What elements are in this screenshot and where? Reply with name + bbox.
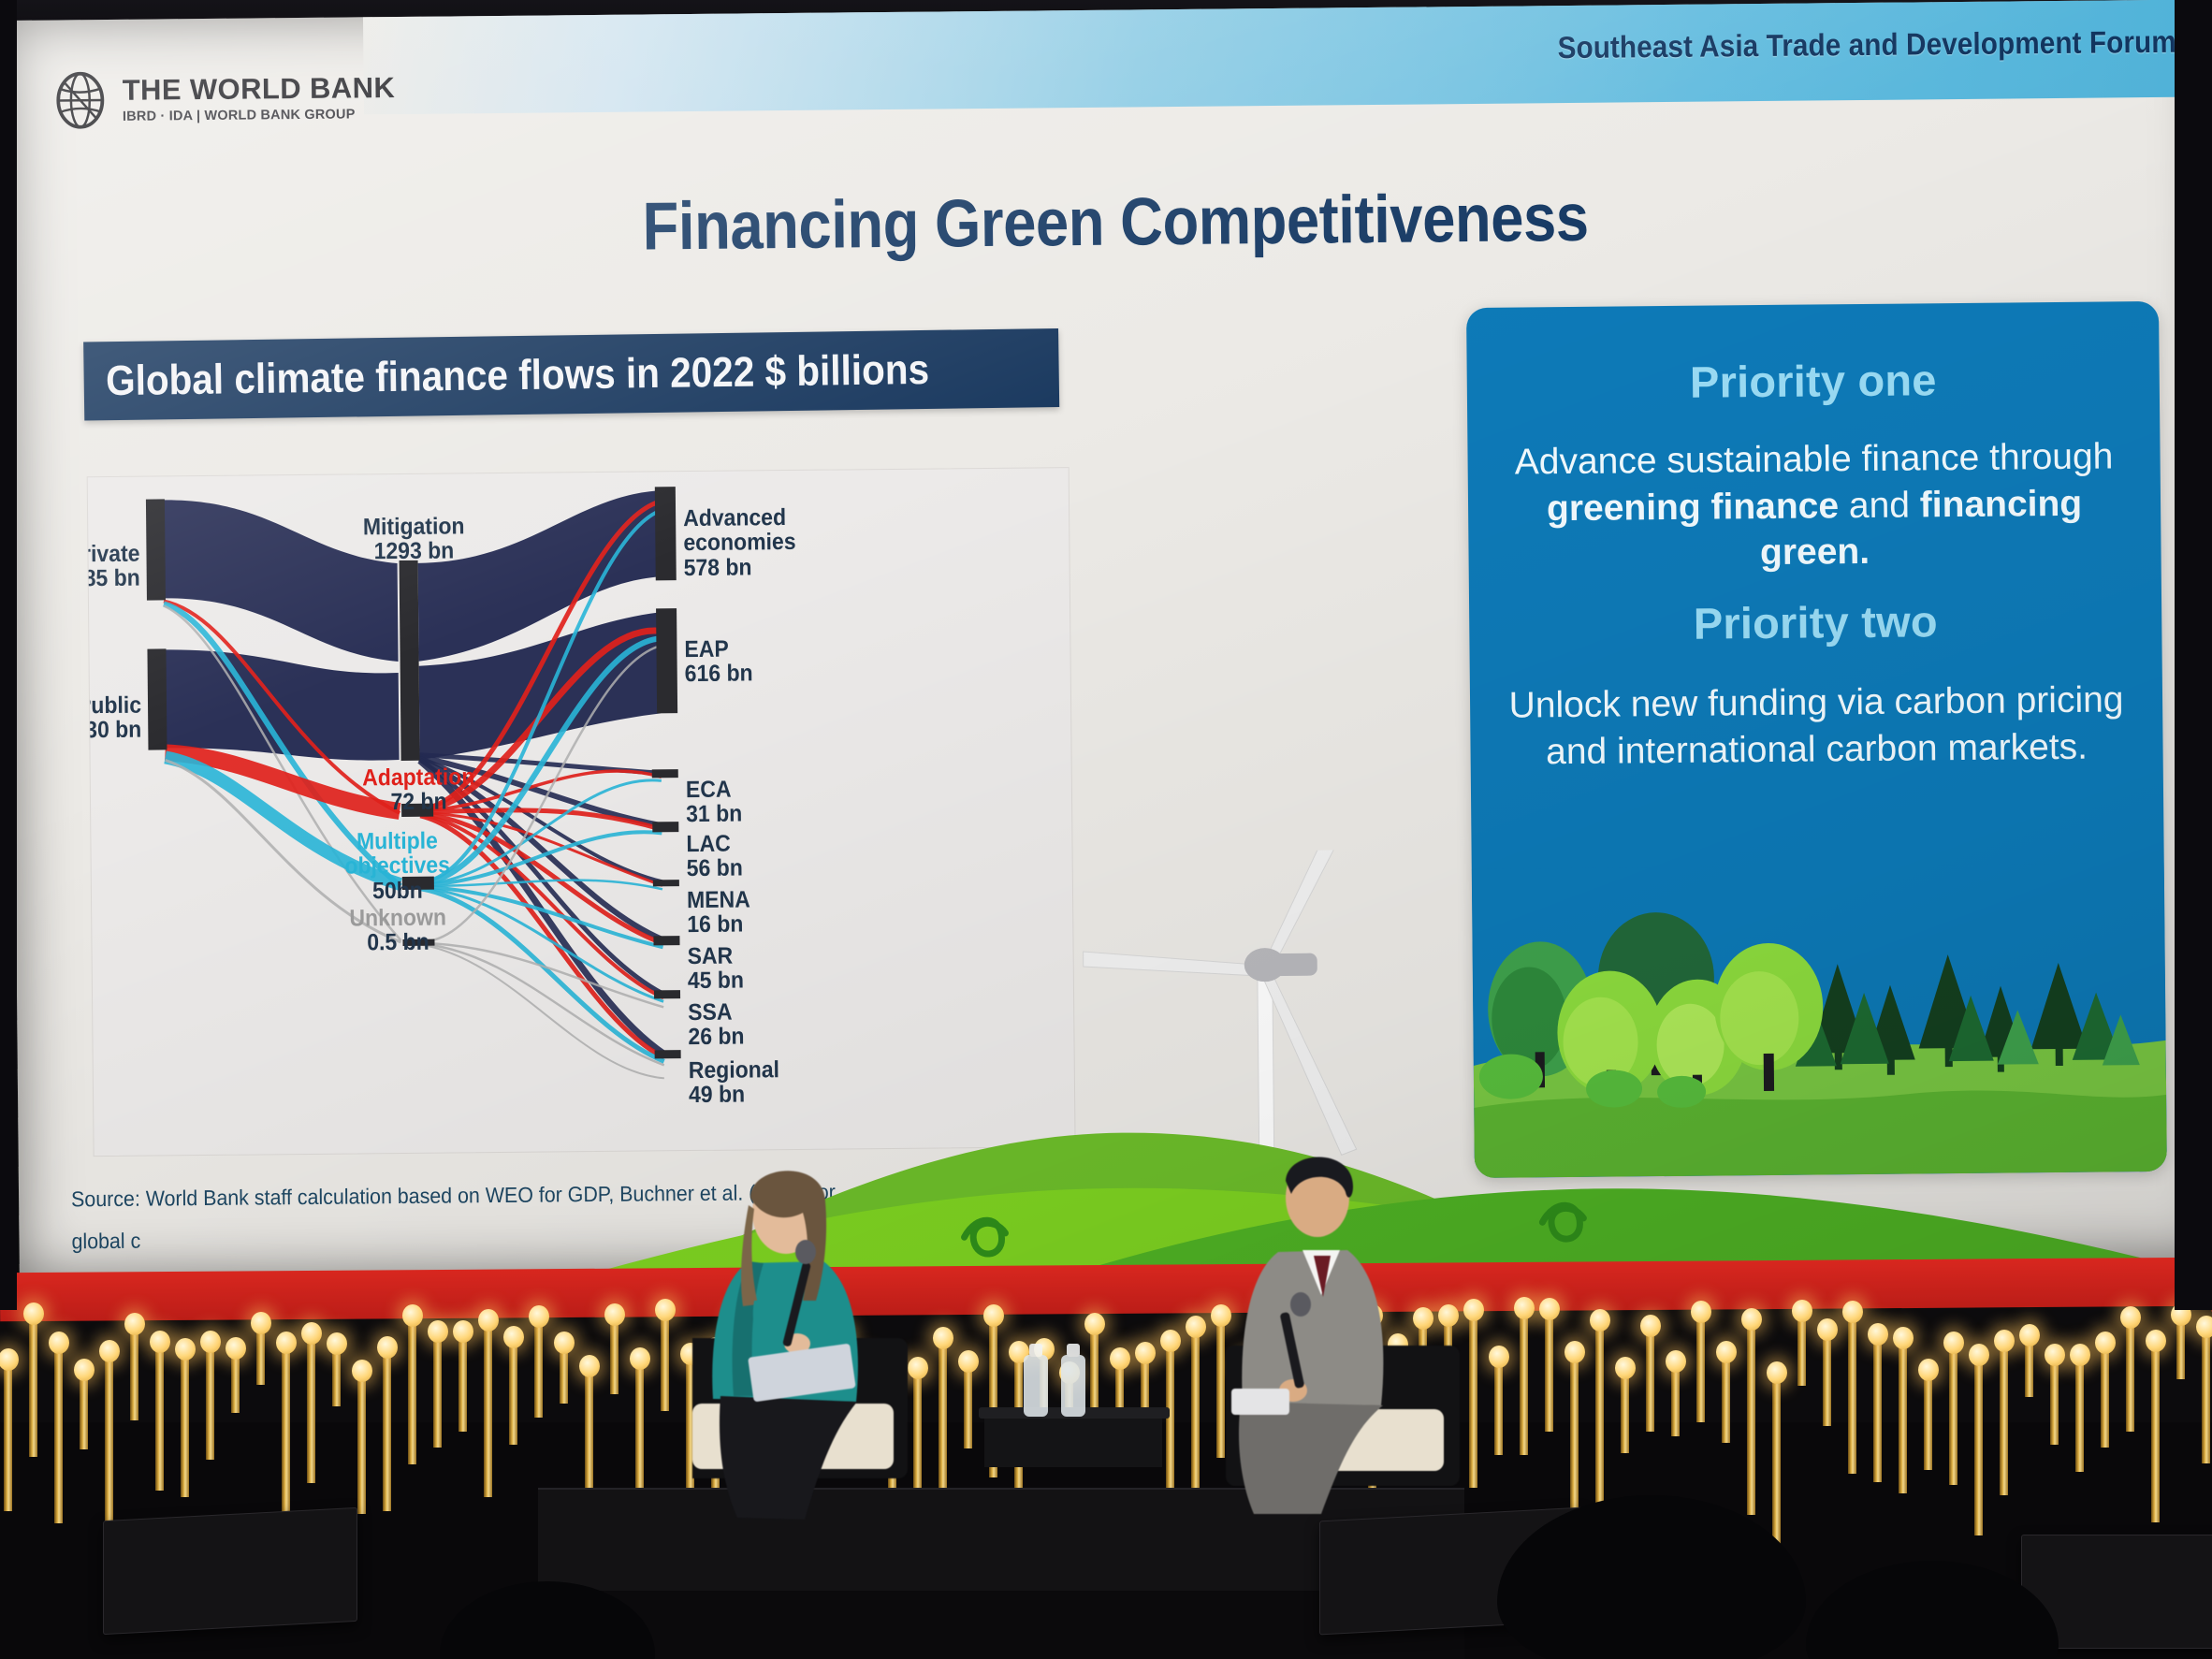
priority-two-body: Unlock new funding via carbon pricing an… bbox=[1496, 677, 2137, 776]
light-stem bbox=[2075, 1360, 2084, 1472]
light-bulb bbox=[124, 1313, 145, 1335]
speaker-left bbox=[692, 1151, 973, 1525]
slide-title: Financing Green Competitiveness bbox=[142, 175, 2089, 270]
light-bulb bbox=[2070, 1344, 2090, 1366]
sankey-node-public bbox=[147, 648, 167, 749]
light-bulb bbox=[200, 1331, 221, 1353]
light-bulb bbox=[2146, 1330, 2166, 1352]
light-bulb bbox=[226, 1337, 246, 1360]
event-banner-band: Southeast Asia Trade and Development For… bbox=[363, 0, 2212, 114]
sankey-node-eap bbox=[656, 608, 677, 713]
light-stem bbox=[408, 1320, 416, 1464]
light-stem bbox=[1974, 1360, 1983, 1535]
light-bulb bbox=[1691, 1301, 1711, 1323]
light-bulb bbox=[1489, 1346, 1509, 1368]
light-bulb bbox=[175, 1338, 196, 1361]
light-stem bbox=[29, 1318, 37, 1457]
priority-one-body: Advance sustainable finance through gree… bbox=[1493, 433, 2134, 578]
priority-one-heading: Priority one bbox=[1493, 352, 2133, 410]
light-bulb bbox=[1741, 1308, 1762, 1331]
light-bulb bbox=[251, 1312, 271, 1334]
light-stem bbox=[155, 1346, 164, 1491]
sankey-node-lac bbox=[652, 822, 678, 832]
stage-monitor-left bbox=[103, 1507, 357, 1635]
light-bulb bbox=[2120, 1306, 2141, 1329]
speaker-right bbox=[1198, 1140, 1469, 1533]
light-stem bbox=[1747, 1324, 1755, 1515]
light-bulb bbox=[1817, 1318, 1838, 1341]
light-stem bbox=[2151, 1346, 2160, 1522]
light-stem bbox=[2126, 1322, 2134, 1432]
light-stem bbox=[282, 1347, 290, 1534]
conference-stage-photo: Southeast Asia Trade and Development For… bbox=[0, 0, 2212, 1659]
light-bulb bbox=[377, 1336, 398, 1359]
sankey-label-private: Private 685 bn bbox=[87, 517, 140, 617]
light-stem bbox=[1621, 1373, 1629, 1453]
light-stem bbox=[560, 1347, 568, 1404]
light-bulb bbox=[1615, 1357, 1636, 1379]
light-bulb bbox=[2095, 1332, 2116, 1354]
light-stem bbox=[80, 1375, 88, 1449]
light-stem bbox=[2176, 1319, 2185, 1379]
light-bulb bbox=[301, 1322, 322, 1345]
light-bulb bbox=[1943, 1332, 1964, 1354]
light-bulb bbox=[74, 1359, 95, 1381]
light-stem bbox=[54, 1347, 63, 1523]
sankey-label-eap: EAP 616 bn bbox=[684, 611, 822, 711]
sankey-label-advanced: Advanced economies 578 bn bbox=[683, 480, 822, 605]
sankey-node-mitigation bbox=[400, 560, 420, 761]
priority-two-block: Priority two Unlock new funding via carb… bbox=[1495, 593, 2137, 776]
light-bulb bbox=[150, 1331, 170, 1353]
light-bulb bbox=[1716, 1341, 1737, 1363]
light-stem bbox=[1494, 1361, 1503, 1455]
light-bulb bbox=[327, 1332, 347, 1355]
light-stem bbox=[4, 1364, 12, 1511]
brand-subtitle: IBRD · IDA | WORLD BANK GROUP bbox=[123, 107, 396, 124]
light-bulb bbox=[1792, 1300, 1812, 1322]
light-stem bbox=[2202, 1332, 2210, 1463]
light-stem bbox=[2050, 1360, 2059, 1445]
light-bulb bbox=[1842, 1301, 1863, 1323]
light-stem bbox=[1595, 1325, 1604, 1514]
light-stem bbox=[1570, 1357, 1579, 1515]
light-stem bbox=[1520, 1313, 1528, 1455]
light-bulb bbox=[655, 1299, 676, 1321]
light-stem bbox=[1924, 1375, 1932, 1470]
sankey-node-private bbox=[146, 499, 166, 600]
light-bulb bbox=[1666, 1350, 1686, 1373]
light-stem bbox=[1797, 1316, 1806, 1386]
light-stem bbox=[256, 1328, 265, 1385]
chart-caption-text: Global climate finance flows in 2022 $ b… bbox=[83, 345, 929, 406]
light-stem bbox=[433, 1336, 442, 1448]
sankey-label-mitigation: Mitigation 1293 bn bbox=[344, 488, 483, 589]
light-bulb bbox=[2196, 1316, 2212, 1338]
sankey-node-advanced bbox=[655, 487, 677, 580]
sankey-label-public: Public 730 bn bbox=[87, 668, 142, 768]
world-bank-logo: THE WORLD BANK IBRD · IDA | WORLD BANK G… bbox=[51, 68, 396, 130]
light-stem bbox=[105, 1356, 113, 1535]
light-stem bbox=[1646, 1331, 1654, 1432]
light-stem bbox=[181, 1354, 189, 1497]
light-stem bbox=[2025, 1340, 2033, 1397]
light-bulb bbox=[630, 1347, 650, 1370]
light-stem bbox=[231, 1353, 240, 1413]
light-stem bbox=[1848, 1317, 1856, 1474]
light-bulb bbox=[2019, 1324, 2040, 1346]
world-bank-globe-icon bbox=[51, 71, 110, 130]
light-stem bbox=[332, 1348, 341, 1406]
light-stem bbox=[509, 1342, 517, 1445]
light-bulb bbox=[453, 1320, 473, 1343]
light-bulb bbox=[1539, 1298, 1560, 1320]
light-bulb bbox=[1564, 1341, 1585, 1363]
light-stem bbox=[1671, 1366, 1680, 1436]
light-stem bbox=[534, 1321, 543, 1418]
light-stem bbox=[1823, 1334, 1831, 1426]
light-bulb bbox=[1640, 1315, 1661, 1337]
light-stem bbox=[206, 1346, 214, 1460]
light-stem bbox=[484, 1325, 492, 1497]
light-stem bbox=[1722, 1357, 1730, 1443]
light-bulb bbox=[1893, 1327, 1914, 1349]
light-stem bbox=[1899, 1343, 1907, 1493]
light-stem bbox=[1696, 1317, 1705, 1422]
light-bulb bbox=[604, 1303, 625, 1326]
light-stem bbox=[130, 1329, 138, 1420]
light-bulb bbox=[1084, 1313, 1105, 1335]
priority-one-block: Priority one Advance sustainable finance… bbox=[1493, 352, 2135, 578]
hall-right-wall bbox=[2175, 0, 2212, 1310]
slide-landscape-art bbox=[16, 841, 2212, 1302]
light-bulb bbox=[23, 1302, 44, 1325]
hall-left-wall bbox=[0, 0, 17, 1310]
brand-name: THE WORLD BANK bbox=[123, 73, 396, 105]
light-stem bbox=[2000, 1346, 2008, 1495]
light-bulb bbox=[49, 1332, 69, 1354]
light-bulb bbox=[1994, 1330, 2015, 1352]
light-bulb bbox=[2045, 1344, 2065, 1366]
light-bulb bbox=[428, 1320, 448, 1343]
light-stem bbox=[307, 1338, 315, 1483]
chart-caption-bar: Global climate finance flows in 2022 $ b… bbox=[83, 328, 1059, 421]
light-bulb bbox=[503, 1326, 524, 1348]
light-stem bbox=[357, 1375, 366, 1514]
light-bulb bbox=[1514, 1297, 1535, 1319]
light-stem bbox=[1545, 1314, 1553, 1432]
light-bulb bbox=[579, 1355, 600, 1377]
side-table-with-water bbox=[979, 1340, 1175, 1480]
light-bulb bbox=[1969, 1344, 1989, 1366]
priority-two-heading: Priority two bbox=[1495, 593, 2135, 651]
light-stem bbox=[2101, 1347, 2109, 1448]
light-stem bbox=[383, 1352, 391, 1511]
light-bulb bbox=[1868, 1323, 1888, 1346]
light-bulb bbox=[352, 1360, 372, 1382]
light-bulb bbox=[478, 1309, 499, 1332]
light-bulb bbox=[402, 1304, 423, 1327]
light-stem bbox=[1772, 1377, 1781, 1554]
light-bulb bbox=[276, 1332, 297, 1354]
light-bulb bbox=[1918, 1359, 1939, 1381]
light-bulb bbox=[1767, 1361, 1787, 1384]
light-stem bbox=[1949, 1347, 1957, 1485]
light-bulb bbox=[554, 1332, 575, 1354]
light-stem bbox=[661, 1315, 669, 1411]
light-bulb bbox=[99, 1340, 120, 1362]
sankey-node-eca bbox=[652, 769, 678, 778]
light-stem bbox=[1873, 1339, 1882, 1482]
light-bulb bbox=[1590, 1309, 1610, 1332]
light-bulb bbox=[529, 1305, 549, 1328]
event-banner-title: Southeast Asia Trade and Development For… bbox=[1557, 24, 2199, 66]
projection-screen: Southeast Asia Trade and Development For… bbox=[7, 0, 2212, 1279]
light-stem bbox=[610, 1319, 618, 1394]
light-stem bbox=[458, 1336, 467, 1432]
